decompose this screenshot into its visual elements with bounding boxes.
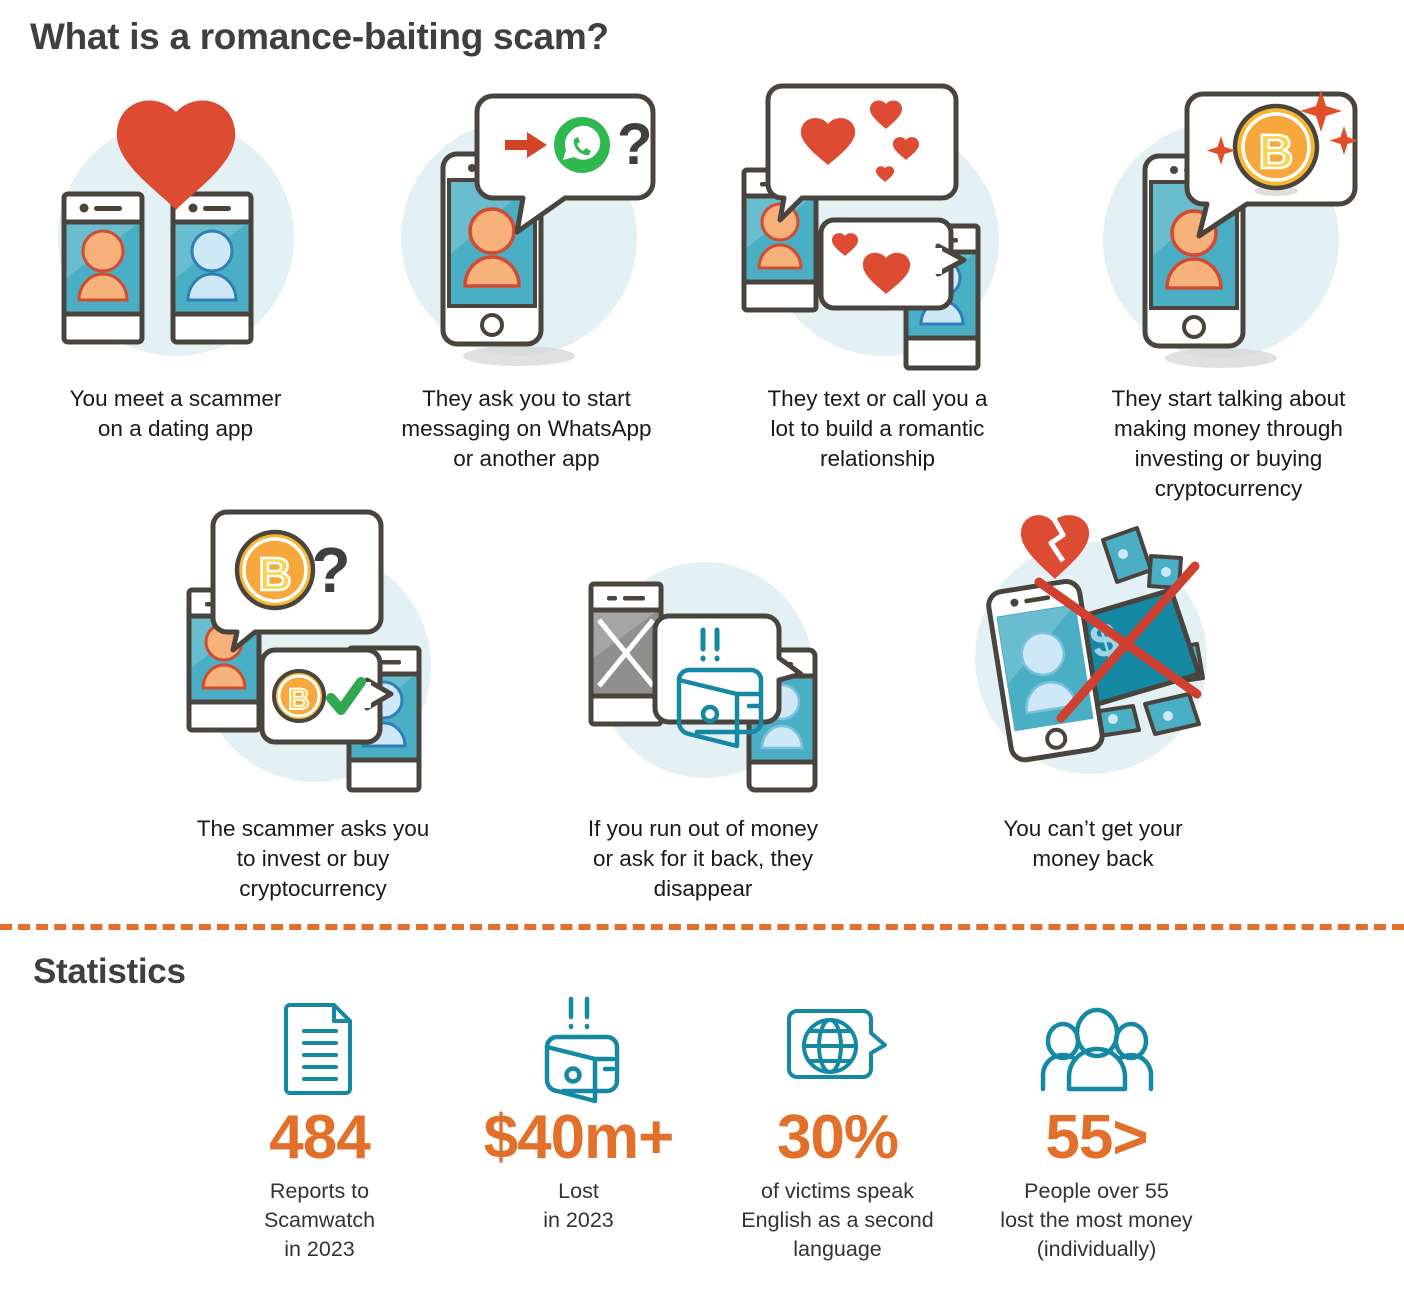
step-caption: The scammer asks you to invest or buy cr…: [197, 814, 430, 904]
stat-label-line: Reports to: [264, 1177, 375, 1206]
phone-bitcoin-sparkle-bubble-icon: B: [1079, 78, 1379, 378]
caption-line: investing or buying: [1112, 444, 1346, 474]
caption-line: making money through: [1112, 414, 1346, 444]
step-2: ? They ask you to start messaging on Wha…: [351, 78, 702, 504]
caption-line: relationship: [767, 444, 987, 474]
step-6: If you run out of money or ask for it ba…: [508, 508, 898, 904]
stat-label: of victims speak English as a second lan…: [741, 1177, 933, 1264]
caption-line: They ask you to start: [401, 384, 651, 414]
stat-value: $40m+: [484, 1103, 674, 1173]
caption-line: You meet a scammer: [70, 384, 282, 414]
stat-label-line: People over 55: [1000, 1177, 1192, 1206]
caption-line: You can’t get your: [1003, 814, 1182, 844]
caption-line: If you run out of money: [588, 814, 818, 844]
stat-label-line: in 2023: [543, 1206, 614, 1235]
document-lines-icon: [284, 995, 356, 1095]
stat-label-line: (individually): [1000, 1235, 1192, 1264]
caption-line: cryptocurrency: [1112, 474, 1346, 504]
svg-text:B: B: [258, 548, 291, 600]
step-1: You meet a scammer on a dating app: [0, 78, 351, 504]
steps-row-1: You meet a scammer on a dating app: [0, 78, 1404, 504]
svg-text:?: ?: [311, 534, 350, 606]
caption-line: They text or call you a: [767, 384, 987, 414]
step-caption: They ask you to start messaging on Whats…: [401, 384, 651, 474]
caption-line: messaging on WhatsApp: [401, 414, 651, 444]
caption-line: or ask for it back, they: [588, 844, 818, 874]
steps-row-2: B ? B The scammer asks you to invest or …: [118, 508, 1288, 904]
step-caption: If you run out of money or ask for it ba…: [588, 814, 818, 904]
phone-crossed-out-wallet-bubble-icon: [553, 508, 853, 808]
stat-label: People over 55 lost the most money (indi…: [1000, 1177, 1192, 1264]
statistics-heading: Statistics: [33, 952, 186, 992]
broken-heart-phone-money-crossed-icon: $: [943, 508, 1243, 808]
stat-reports: 484 Reports to Scamwatch in 2023: [190, 995, 449, 1264]
infographic-page: What is a romance-baiting scam?: [0, 0, 1404, 1291]
section-divider: [0, 924, 1404, 930]
stat-value: 30%: [777, 1103, 898, 1173]
step-caption: You meet a scammer on a dating app: [70, 384, 282, 444]
step-caption: You can’t get your money back: [1003, 814, 1182, 874]
globe-speech-bubble-icon: [787, 995, 889, 1095]
svg-text:?: ?: [617, 112, 652, 177]
svg-text:B: B: [288, 683, 310, 716]
stat-value: 484: [269, 1103, 369, 1173]
caption-line: or another app: [401, 444, 651, 474]
svg-text:B: B: [1258, 126, 1293, 179]
stat-lost: $40m+ Lost in 2023: [449, 995, 708, 1264]
step-7: $: [898, 508, 1288, 904]
caption-line: disappear: [588, 874, 818, 904]
step-caption: They start talking about making money th…: [1112, 384, 1346, 504]
page-title: What is a romance-baiting scam?: [30, 16, 609, 58]
caption-line: They start talking about: [1112, 384, 1346, 414]
caption-line: to invest or buy: [197, 844, 430, 874]
three-people-icon: [1037, 995, 1157, 1095]
stat-label-line: Lost: [543, 1177, 614, 1206]
stat-label-line: lost the most money: [1000, 1206, 1192, 1235]
stat-label-line: of victims speak: [741, 1177, 933, 1206]
wallet-alert-icon: [533, 995, 625, 1095]
stat-label-line: language: [741, 1235, 933, 1264]
step-3: They text or call you a lot to build a r…: [702, 78, 1053, 504]
caption-line: lot to build a romantic: [767, 414, 987, 444]
two-phones-heart-icon: [26, 78, 326, 378]
statistics-row: 484 Reports to Scamwatch in 2023: [190, 995, 1226, 1264]
step-5: B ? B The scammer asks you to invest or …: [118, 508, 508, 904]
phone-whatsapp-bubble-icon: ?: [377, 78, 677, 378]
caption-line: money back: [1003, 844, 1182, 874]
two-phones-bitcoin-question-tick-icon: B ? B: [163, 508, 463, 808]
caption-line: on a dating app: [70, 414, 282, 444]
step-caption: They text or call you a lot to build a r…: [767, 384, 987, 474]
caption-line: cryptocurrency: [197, 874, 430, 904]
two-phones-hearts-bubbles-icon: [728, 78, 1028, 378]
stat-label-line: in 2023: [264, 1235, 375, 1264]
stat-label: Reports to Scamwatch in 2023: [264, 1177, 375, 1264]
stat-label-line: English as a second: [741, 1206, 933, 1235]
stat-value: 55>: [1045, 1103, 1147, 1173]
stat-label-line: Scamwatch: [264, 1206, 375, 1235]
stat-esl: 30% of victims speak English as a second…: [708, 995, 967, 1264]
stat-age: 55> People over 55 lost the most money (…: [967, 995, 1226, 1264]
caption-line: The scammer asks you: [197, 814, 430, 844]
stat-label: Lost in 2023: [543, 1177, 614, 1235]
step-4: B They start talking about making money …: [1053, 78, 1404, 504]
